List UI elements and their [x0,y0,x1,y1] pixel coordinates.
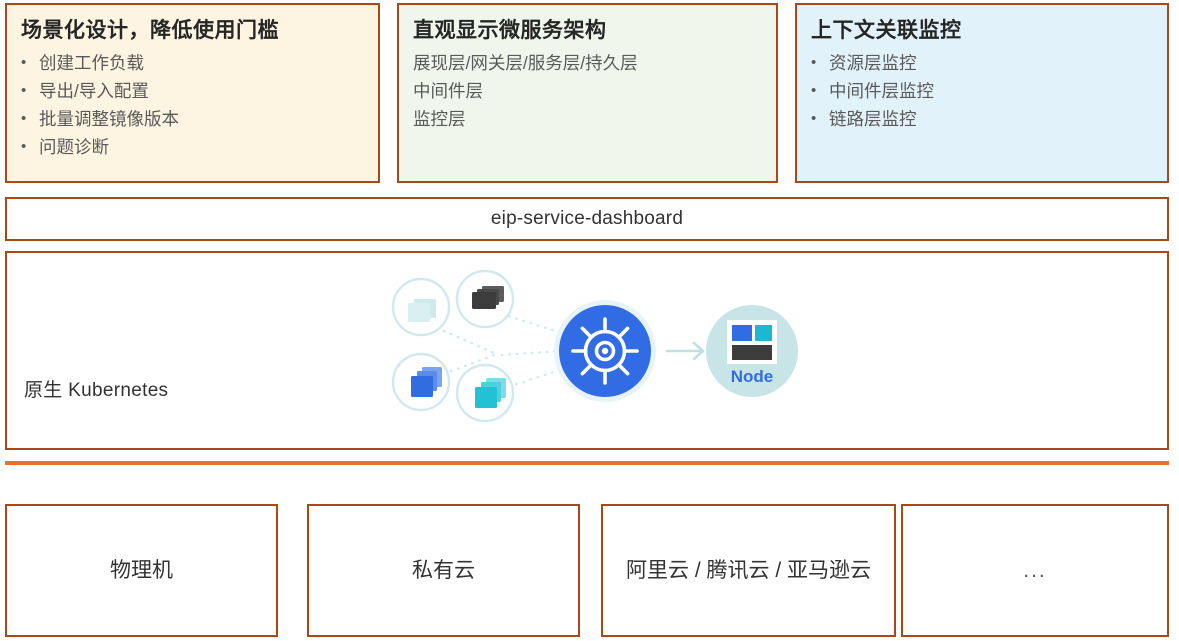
card-title: 场景化设计，降低使用门槛 [21,16,364,45]
dark-stack-icon [457,271,513,327]
infra-box-more: ... [901,504,1169,637]
list-item-label: 资源层监控 [829,49,917,77]
bullet-icon: • [811,49,829,77]
infra-box-label: 物理机 [100,555,183,587]
list-item: •导出/导入配置 [21,77,364,105]
list-item-label: 展现层/网关层/服务层/持久层 [413,53,638,73]
arrow-icon [667,343,703,359]
infrastructure-row: 物理机 私有云 阿里云 / 腾讯云 / 亚马逊云 ... [5,504,1169,637]
list-item-label: 监控层 [413,109,466,129]
card-line-list: 展现层/网关层/服务层/持久层 中间件层 监控层 [413,49,762,133]
bullet-icon: • [21,133,39,161]
list-item: •中间件层监控 [811,77,1153,105]
list-item-label: 中间件层监控 [829,77,934,105]
infra-box-label: ... [1013,555,1057,587]
list-item-label: 批量调整镜像版本 [39,105,179,133]
bullet-icon: • [21,49,39,77]
bullet-icon: • [21,77,39,105]
list-item-label: 链路层监控 [829,105,917,133]
infra-box-label: 私有云 [402,555,485,587]
list-item: •资源层监控 [811,49,1153,77]
kubernetes-illustration: Node [382,269,812,434]
node-icon: Node [706,305,798,397]
list-item: 展现层/网关层/服务层/持久层 [413,49,762,77]
pale-stack-icon [393,279,449,335]
teal-stack-icon [457,365,513,421]
feature-card-context-monitoring: 上下文关联监控 •资源层监控 •中间件层监控 •链路层监控 [795,3,1169,183]
feature-card-scenario-design: 场景化设计，降低使用门槛 •创建工作负载 •导出/导入配置 •批量调整镜像版本 … [5,3,380,183]
eip-service-dashboard-bar: eip-service-dashboard [5,197,1169,241]
architecture-diagram: 场景化设计，降低使用门槛 •创建工作负载 •导出/导入配置 •批量调整镜像版本 … [0,0,1179,641]
kubernetes-wheel-icon [554,300,656,402]
list-item: •创建工作负载 [21,49,364,77]
infra-box-public-cloud: 阿里云 / 腾讯云 / 亚马逊云 [601,504,896,637]
card-bullet-list: •创建工作负载 •导出/导入配置 •批量调整镜像版本 •问题诊断 [21,49,364,161]
bullet-icon: • [21,105,39,133]
bullet-icon: • [811,105,829,133]
infra-box-physical-machine: 物理机 [5,504,278,637]
list-item: •批量调整镜像版本 [21,105,364,133]
list-item: 中间件层 [413,77,762,105]
feature-cards-row: 场景化设计，降低使用门槛 •创建工作负载 •导出/导入配置 •批量调整镜像版本 … [5,3,1169,183]
list-item-label: 中间件层 [413,81,483,101]
card-title: 直观显示微服务架构 [413,16,762,45]
section-divider [5,461,1169,465]
node-label: Node [731,367,774,386]
list-item: •问题诊断 [21,133,364,161]
feature-card-microservice-architecture: 直观显示微服务架构 展现层/网关层/服务层/持久层 中间件层 监控层 [397,3,778,183]
kubernetes-band: 原生 Kubernetes [5,251,1169,450]
kubernetes-label: 原生 Kubernetes [24,375,168,402]
list-item-label: 导出/导入配置 [39,77,149,105]
list-item-label: 问题诊断 [39,133,109,161]
bullet-icon: • [811,77,829,105]
list-item: •链路层监控 [811,105,1153,133]
card-title: 上下文关联监控 [811,16,1153,45]
blue-stack-icon [393,354,449,410]
infra-box-private-cloud: 私有云 [307,504,580,637]
list-item: 监控层 [413,105,762,133]
list-item-label: 创建工作负载 [39,49,144,77]
dashboard-label: eip-service-dashboard [491,208,683,230]
infra-box-label: 阿里云 / 腾讯云 / 亚马逊云 [616,555,881,587]
card-bullet-list: •资源层监控 •中间件层监控 •链路层监控 [811,49,1153,133]
